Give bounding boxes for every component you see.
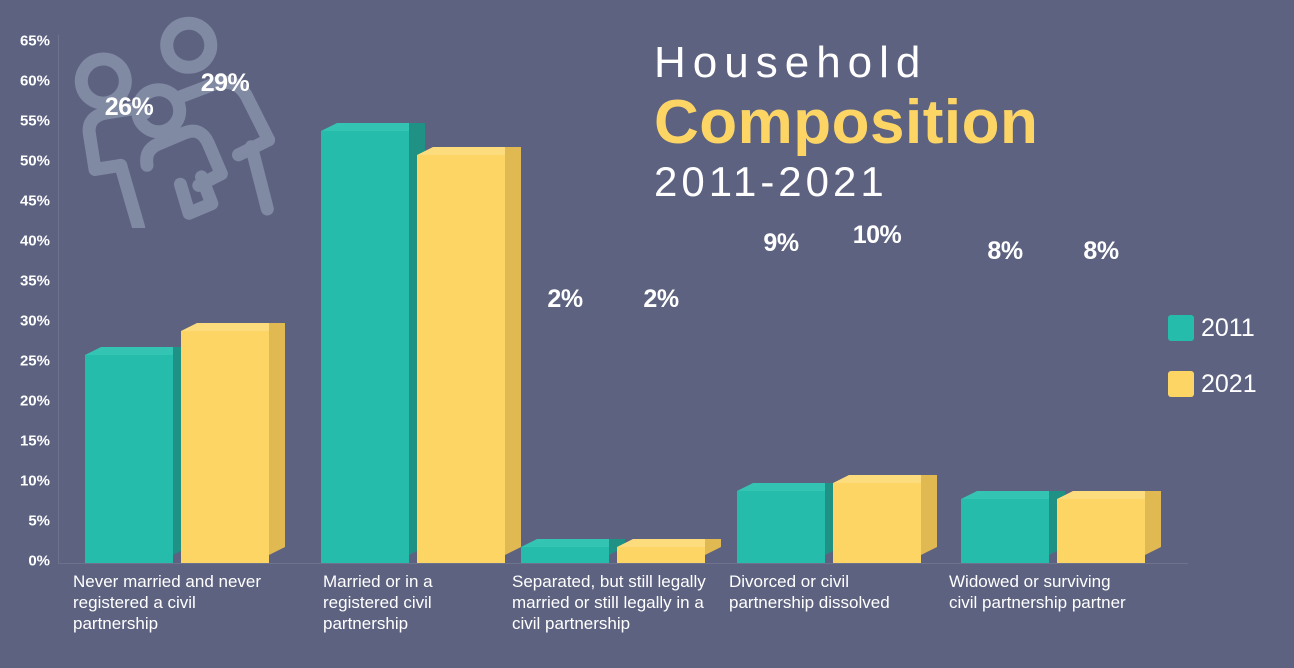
bar-side-face (705, 539, 721, 555)
bar-front-face (85, 355, 173, 563)
bar-value-2021-divorced: 10% (853, 221, 902, 250)
y-tick-0: 0% (28, 553, 50, 570)
household-composition-infographic: Household Composition 2011-2021 2011 202… (0, 0, 1294, 668)
bar-2011-separated[interactable] (521, 547, 609, 563)
y-axis: 65% 60% 55% 50% 45% 40% 35% 30% 25% 20% … (0, 0, 56, 568)
bar-2011-widowed[interactable] (961, 499, 1049, 563)
y-tick-55: 55% (20, 113, 50, 130)
bar-value-2011-widowed: 8% (987, 237, 1022, 266)
bar-value-2011-separated: 2% (547, 285, 582, 314)
bar-front-face (321, 131, 409, 563)
bar-2021-never-married[interactable] (181, 331, 269, 563)
y-tick-35: 35% (20, 273, 50, 290)
bar-value-2011-divorced: 9% (763, 229, 798, 258)
y-tick-25: 25% (20, 353, 50, 370)
bar-front-face (737, 491, 825, 563)
bar-side-face (1145, 491, 1161, 555)
bar-front-face (961, 499, 1049, 563)
bar-value-2021-separated: 2% (643, 285, 678, 314)
y-tick-40: 40% (20, 233, 50, 250)
bar-2021-married[interactable] (417, 155, 505, 563)
y-axis-line (58, 35, 59, 563)
bar-front-face (417, 155, 505, 563)
y-tick-50: 50% (20, 153, 50, 170)
y-tick-60: 60% (20, 73, 50, 90)
bar-2011-never-married[interactable] (85, 355, 173, 563)
bar-front-face (833, 483, 921, 563)
bar-2021-divorced[interactable] (833, 483, 921, 563)
y-tick-20: 20% (20, 393, 50, 410)
category-label-married: Married or in a registered civil partner… (323, 571, 503, 634)
bar-side-face (921, 475, 937, 555)
bar-front-face (1057, 499, 1145, 563)
bar-value-2021-never-married: 29% (201, 69, 250, 98)
bar-2021-separated[interactable] (617, 547, 705, 563)
bar-2011-married[interactable] (321, 131, 409, 563)
bar-value-2011-never-married: 26% (105, 93, 154, 122)
y-tick-15: 15% (20, 433, 50, 450)
bar-side-face (269, 323, 285, 555)
bar-value-2021-widowed: 8% (1083, 237, 1118, 266)
category-label-separated: Separated, but still legally married or … (512, 571, 712, 634)
category-label-divorced: Divorced or civil partnership dissolved (729, 571, 934, 613)
bar-front-face (521, 547, 609, 563)
bar-2011-divorced[interactable] (737, 491, 825, 563)
y-tick-10: 10% (20, 473, 50, 490)
bar-chart-plot: 65% 60% 55% 50% 45% 40% 35% 30% 25% 20% … (0, 0, 1294, 668)
y-tick-30: 30% (20, 313, 50, 330)
bar-front-face (617, 547, 705, 563)
category-label-widowed: Widowed or surviving civil partnership p… (949, 571, 1139, 613)
y-tick-45: 45% (20, 193, 50, 210)
y-tick-65: 65% (20, 33, 50, 50)
bar-2021-widowed[interactable] (1057, 499, 1145, 563)
y-tick-5: 5% (28, 513, 50, 530)
bar-front-face (181, 331, 269, 563)
x-axis-baseline (58, 563, 1188, 564)
bar-side-face (505, 147, 521, 555)
category-label-never-married: Never married and never registered a civ… (73, 571, 273, 634)
